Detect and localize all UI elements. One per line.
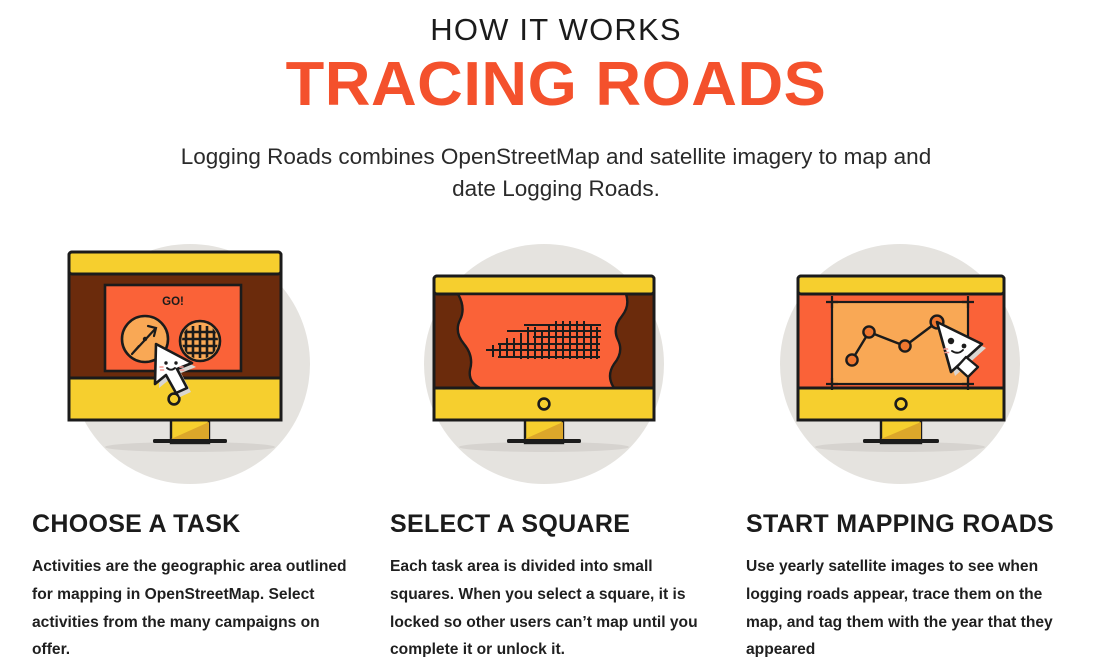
- stand-foot: [507, 439, 581, 443]
- steps-container: GO!: [0, 236, 1112, 657]
- cursor-eye-right: [174, 361, 177, 364]
- monitor-top-bezel: [434, 276, 654, 294]
- power-button: [896, 399, 907, 410]
- step-choose-a-task: GO!: [0, 236, 357, 657]
- step-title: START MAPPING ROADS: [746, 510, 1084, 539]
- step-select-a-square: SELECT A SQUARE Each task area is divide…: [357, 236, 714, 657]
- monitor-choose-task-illustration: GO!: [60, 236, 320, 496]
- how-it-works-page: HOW IT WORKS TRACING ROADS Logging Roads…: [0, 0, 1112, 657]
- power-button: [169, 394, 180, 405]
- monitor-select-square-illustration: [414, 236, 674, 496]
- grid-circle-icon: [180, 321, 220, 361]
- compass-center-dot: [143, 337, 147, 341]
- eyebrow-label: HOW IT WORKS: [0, 14, 1112, 45]
- pen-eye-left: [948, 338, 954, 344]
- stand-foot: [153, 439, 227, 443]
- cursor-eye-left: [164, 361, 167, 364]
- monitor-start-mapping-illustration: [770, 236, 1030, 496]
- page-header: HOW IT WORKS TRACING ROADS Logging Roads…: [0, 0, 1112, 205]
- step-title: SELECT A SQUARE: [390, 510, 714, 539]
- stand-foot: [863, 439, 939, 443]
- monitor-top-bezel: [69, 252, 281, 274]
- power-button: [539, 399, 550, 410]
- pen-eye-right: [962, 344, 967, 349]
- step-body: Each task area is divided into small squ…: [390, 553, 714, 657]
- monitor-top-bezel: [798, 276, 1004, 294]
- page-subtitle: Logging Roads combines OpenStreetMap and…: [156, 141, 956, 205]
- go-label: GO!: [162, 296, 184, 308]
- step-body: Activities are the geographic area outli…: [32, 553, 357, 657]
- step-body: Use yearly satellite images to see when …: [746, 553, 1066, 657]
- page-title: TRACING ROADS: [0, 51, 1112, 119]
- step-title: CHOOSE A TASK: [32, 510, 357, 539]
- step-start-mapping-roads: START MAPPING ROADS Use yearly satellite…: [714, 236, 1084, 657]
